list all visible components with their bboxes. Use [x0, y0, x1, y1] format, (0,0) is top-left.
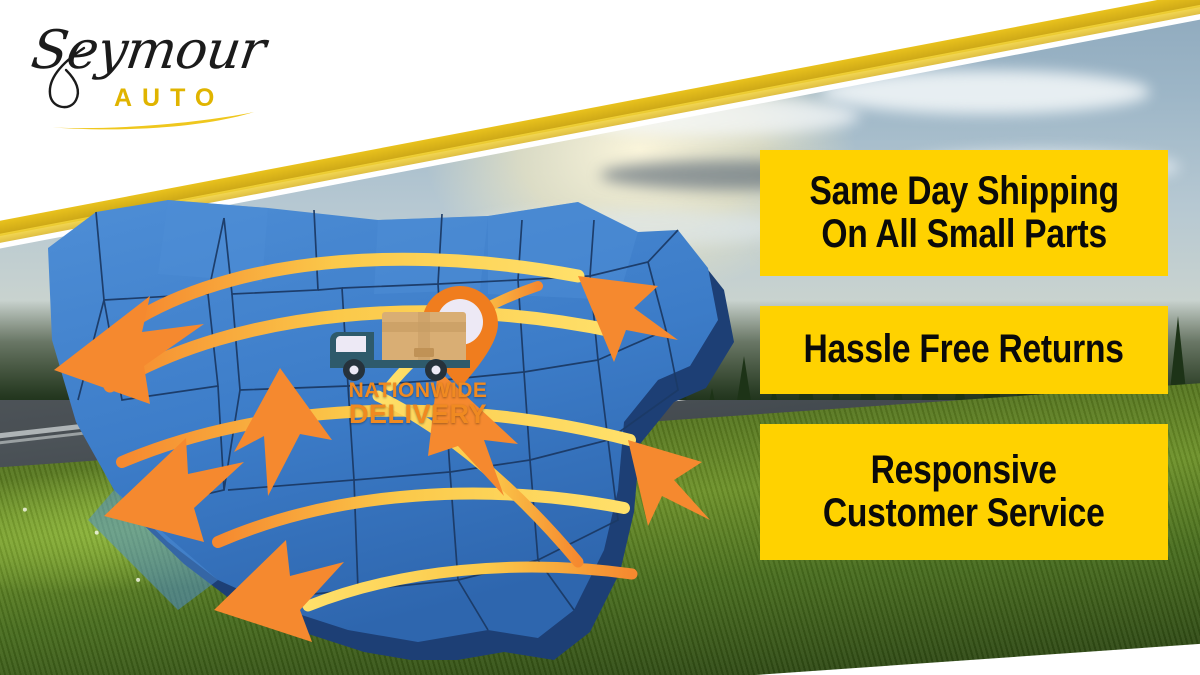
logo-script-text: Seymour	[28, 20, 269, 81]
badge-line-1: NATIONWIDE	[318, 380, 518, 401]
logo-swoosh-icon	[46, 110, 256, 132]
promo-banner: Seymour AUTO	[0, 0, 1200, 675]
callout-responsive-customer-service[interactable]: Responsive Customer Service	[760, 424, 1168, 560]
badge-line-2: DELIVERY	[318, 401, 518, 429]
nationwide-delivery-badge: NATIONWIDE DELIVERY	[318, 280, 518, 450]
badge-text: NATIONWIDE DELIVERY	[318, 380, 518, 429]
callout-line: Same Day Shipping	[809, 170, 1118, 213]
callout-hassle-free-returns[interactable]: Hassle Free Returns	[760, 306, 1168, 394]
callout-line: Hassle Free Returns	[804, 328, 1124, 371]
callout-line: Customer Service	[823, 492, 1105, 535]
arrow-head	[628, 440, 710, 526]
brand-logo[interactable]: Seymour AUTO	[26, 18, 276, 128]
logo-auto-text: AUTO	[114, 84, 224, 113]
callout-line: On All Small Parts	[809, 213, 1118, 256]
callout-line: Responsive	[823, 449, 1105, 492]
callout-same-day-shipping[interactable]: Same Day Shipping On All Small Parts	[760, 150, 1168, 276]
